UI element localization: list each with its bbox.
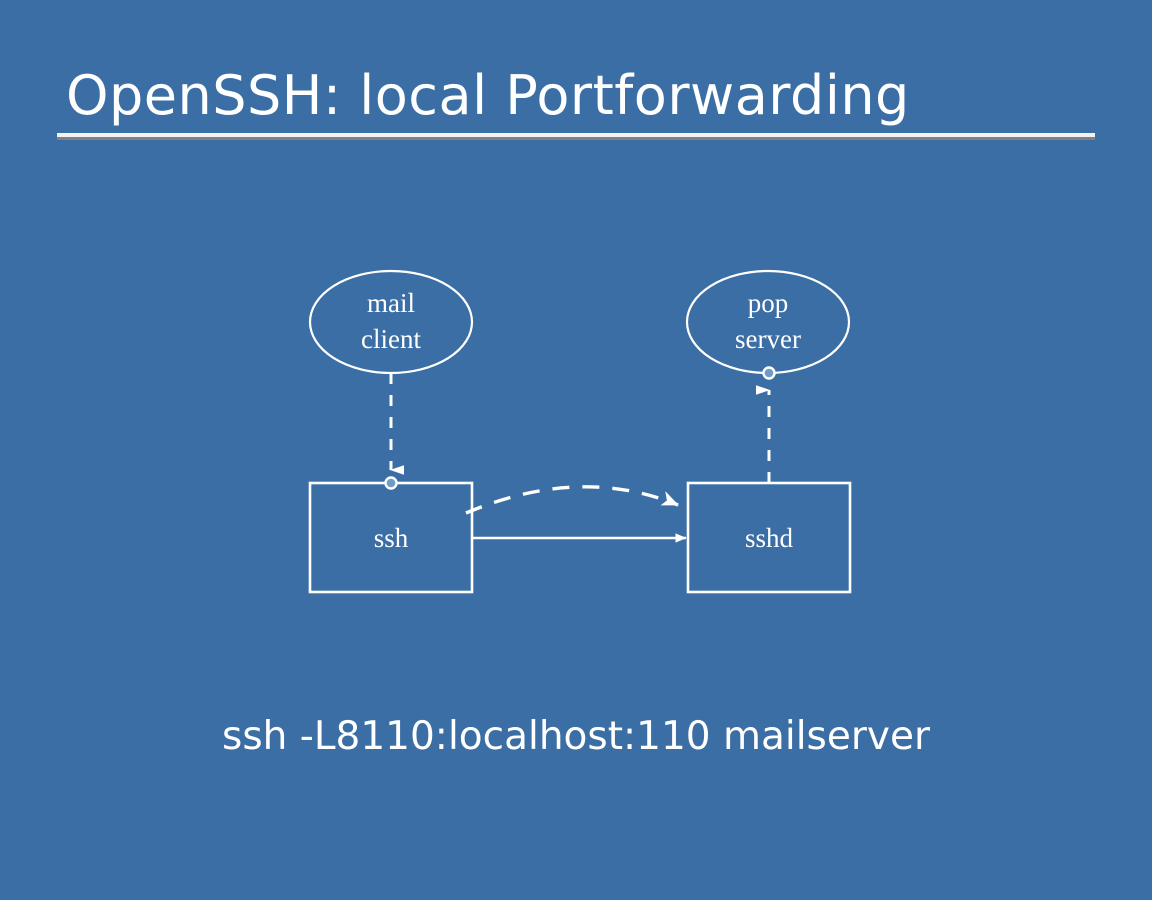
mail-client-ellipse xyxy=(310,271,472,373)
ssh-label: ssh xyxy=(374,523,409,553)
connector-sshd-to-popserver xyxy=(764,368,775,484)
connector-mailclient-to-ssh xyxy=(386,373,397,489)
pop-server-label-line1: pop xyxy=(748,288,789,318)
node-mail-client[interactable]: mail client xyxy=(310,271,472,373)
pop-server-label-line2: server xyxy=(735,324,801,354)
slide-canvas: OpenSSH: local Portforwarding mail clien… xyxy=(0,0,1152,900)
sshd-label: sshd xyxy=(745,523,794,553)
mail-client-label-line2: client xyxy=(361,324,421,354)
popserver-port-circle xyxy=(764,368,775,379)
node-ssh[interactable]: ssh xyxy=(310,483,472,592)
command-caption: ssh -L8110:localhost:110 mailserver xyxy=(0,712,1152,762)
ssh-sshd-dashed-arc xyxy=(466,487,678,513)
connector-ssh-to-sshd-tunnel xyxy=(466,487,678,513)
mail-client-label-line1: mail xyxy=(367,288,415,318)
portforwarding-diagram: mail client pop server ssh sshd xyxy=(0,0,1152,900)
ssh-local-port-circle xyxy=(386,478,397,489)
pop-server-ellipse xyxy=(687,271,849,373)
node-sshd[interactable]: sshd xyxy=(688,483,850,592)
node-pop-server[interactable]: pop server xyxy=(687,271,849,373)
